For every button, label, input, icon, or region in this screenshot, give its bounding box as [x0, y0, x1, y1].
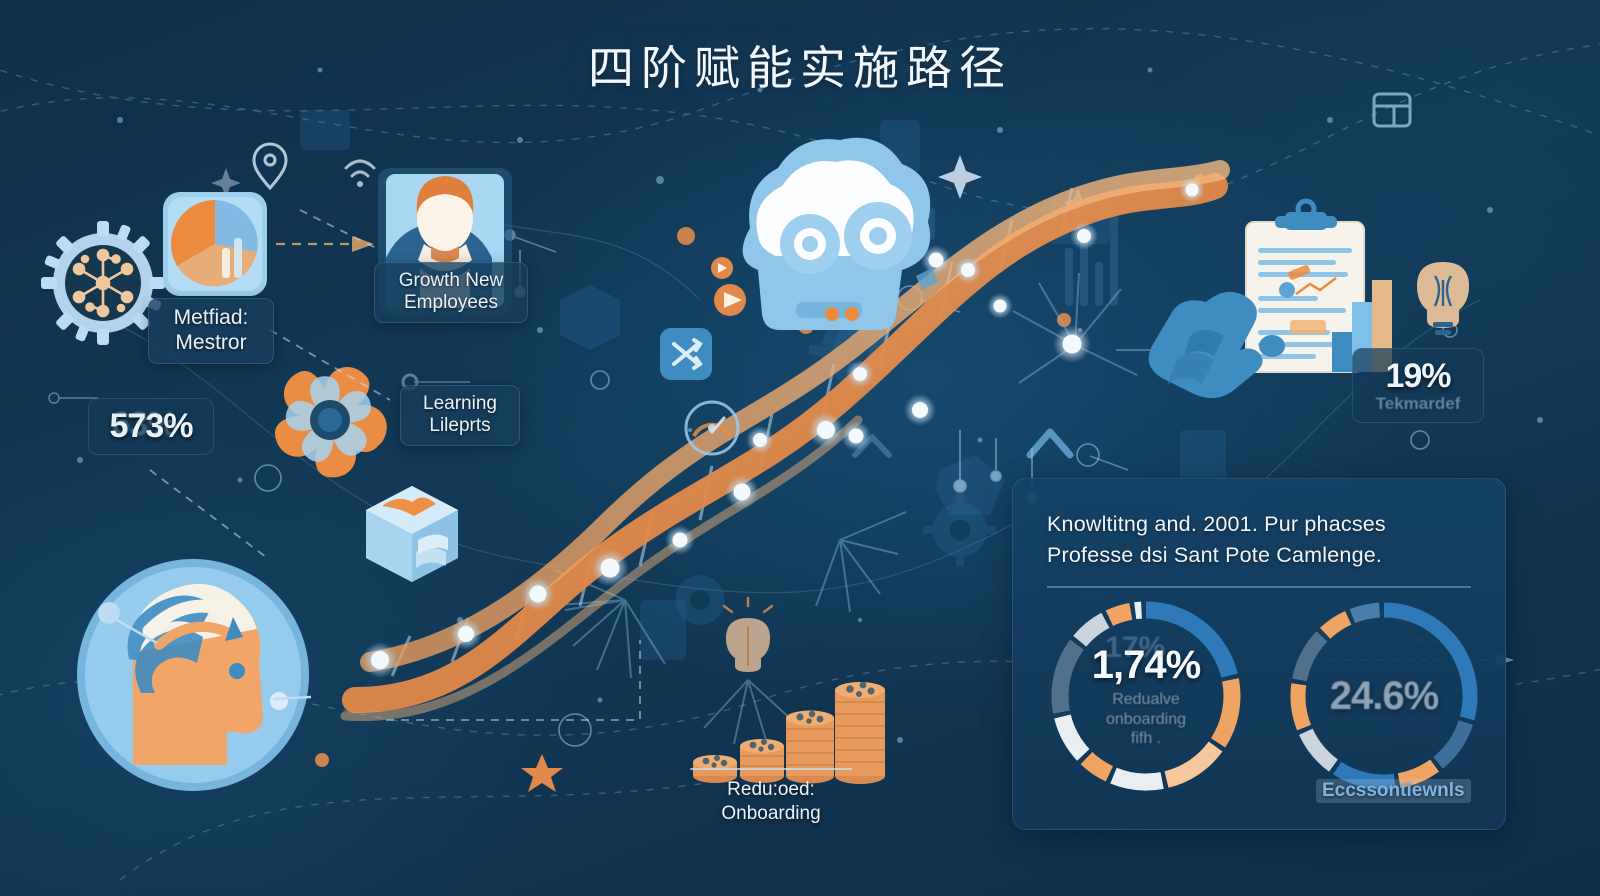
label-growth-new-employees: Growth New Employees [374, 262, 528, 323]
shuffle-node-icon [660, 328, 712, 380]
page-title: 四阶赋能实施路径 [0, 32, 1600, 98]
lightbulb-icon [1417, 262, 1469, 335]
label-method-mentor-line1: Metfiad: [161, 306, 261, 331]
essentials-donut: 24.6% Eccssontiewnls [1275, 587, 1493, 805]
label-reduced-line1: Redu:oed: [690, 778, 852, 802]
flow-arrow [276, 236, 374, 252]
pinwheel-flower-icon [267, 366, 392, 486]
infographic-canvas: 四阶赋能实施路径 Metfiad: Mestror Growth New Emp… [0, 0, 1600, 896]
label-reduced-onboarding: Redu:oed: Onboarding [690, 768, 852, 826]
label-method-mentor-line2: Mestror [161, 331, 261, 356]
donut1-label-line1: Redualve [1106, 690, 1186, 710]
robot-head-icon [743, 138, 938, 330]
reduced-onboarding-donut: 17% 1,74% Redualve onboarding fifh . [1037, 587, 1255, 805]
donut2-label: Eccssontiewnls [1316, 779, 1471, 803]
stat-right-value: 19% [1367, 357, 1469, 396]
label-learning-line2: Lileprts [413, 415, 507, 437]
stat-left-percent: 63% 573% [88, 398, 214, 455]
star-icon [521, 754, 563, 792]
stat-right-percent: 19% Tekmardef [1352, 348, 1484, 423]
stat-right-sub: Tekmardef [1367, 394, 1469, 414]
panel-paragraph: Knowltitng and. 2001. Pur phacses Profes… [1013, 479, 1505, 570]
location-pin-icon [254, 144, 286, 188]
label-method-mentor: Metfiad: Mestror [148, 298, 274, 364]
donut1-label: Redualve onboarding fifh . [1106, 690, 1186, 749]
label-growth-line1: Growth New [387, 270, 515, 292]
donut-row: 17% 1,74% Redualve onboarding fifh . 24.… [1013, 587, 1505, 827]
panel-paragraph-line2: Professe dsi Sant Pote Camlenge. [1047, 540, 1471, 571]
head-profile-icon [77, 559, 311, 791]
donut1-ghost-value: 17% [1105, 631, 1165, 665]
label-rule [690, 768, 852, 770]
label-learning-line1: Learning [413, 393, 507, 415]
donut2-center-value: 24.6% [1330, 674, 1438, 719]
isometric-cube-icon [366, 486, 458, 582]
idea-bulb-icon [724, 598, 772, 672]
panel-paragraph-line1: Knowltitng and. 2001. Pur phacses [1047, 509, 1471, 540]
label-growth-line2: Employees [387, 292, 515, 314]
wifi-icon [346, 161, 374, 187]
label-learning-lileprts: Learning Lileprts [400, 385, 520, 446]
insight-panel: Knowltitng and. 2001. Pur phacses Profes… [1012, 478, 1506, 830]
donut1-label-line3: fifh . [1106, 729, 1186, 749]
gauge-icon [686, 402, 738, 454]
stat-left-ghost: 63% [82, 405, 206, 444]
pie-chart-tile-icon [163, 192, 267, 296]
label-reduced-line2: Onboarding [690, 802, 852, 826]
export-panel-icon [1374, 94, 1410, 126]
donut1-label-line2: onboarding [1106, 710, 1186, 730]
